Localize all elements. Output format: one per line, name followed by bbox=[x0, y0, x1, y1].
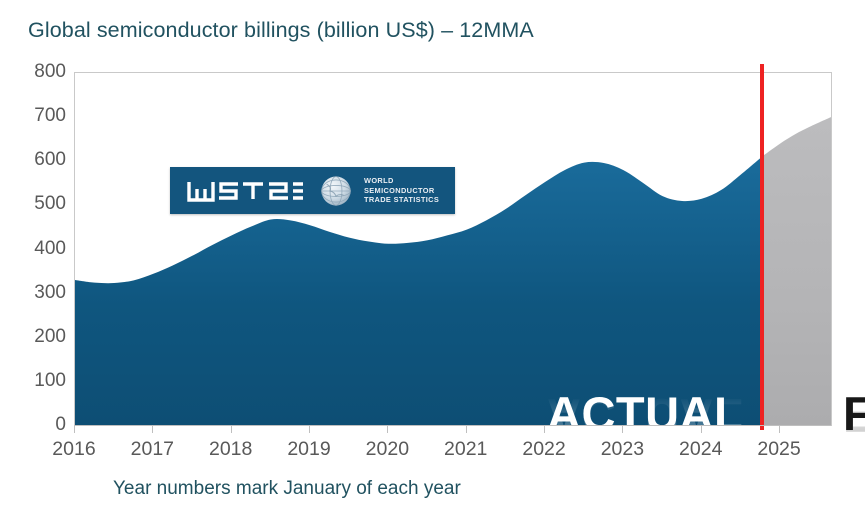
x-tick-mark-2022 bbox=[544, 425, 545, 433]
forecast-area-path bbox=[763, 117, 831, 426]
x-tick-label-2025: 2025 bbox=[757, 438, 800, 461]
x-tick-mark-2025 bbox=[779, 425, 780, 433]
actual-region-label-reflection: ACTUAL bbox=[547, 392, 743, 439]
x-tick-mark-2024 bbox=[701, 425, 702, 433]
x-tick-label-2021: 2021 bbox=[444, 438, 487, 461]
wsts-tagline-line-1: WORLD bbox=[364, 176, 439, 186]
plot-clip bbox=[75, 73, 831, 426]
page-title: Global semiconductor billings (billion U… bbox=[28, 18, 534, 43]
x-tick-label-2018: 2018 bbox=[209, 438, 252, 461]
forecast-region-label-reflection: FC bbox=[843, 392, 865, 439]
y-tick-label-300: 300 bbox=[8, 282, 66, 304]
x-tick-label-2019: 2019 bbox=[287, 438, 330, 461]
y-axis: 0100200300400500600700800 bbox=[0, 72, 66, 425]
x-tick-label-2016: 2016 bbox=[52, 438, 95, 461]
wsts-tagline-line-3: TRADE STATISTICS bbox=[364, 195, 439, 205]
x-tick-mark-2019 bbox=[309, 425, 310, 433]
axis-footnote: Year numbers mark January of each year bbox=[113, 478, 461, 500]
plot-area: WORLD SEMICONDUCTOR TRADE STATISTICS ACT… bbox=[74, 72, 832, 426]
x-tick-mark-2021 bbox=[466, 425, 467, 433]
y-tick-label-500: 500 bbox=[8, 193, 66, 215]
wsts-tagline: WORLD SEMICONDUCTOR TRADE STATISTICS bbox=[364, 176, 439, 206]
x-tick-label-2020: 2020 bbox=[366, 438, 409, 461]
y-tick-label-100: 100 bbox=[8, 370, 66, 392]
y-tick-label-600: 600 bbox=[8, 149, 66, 171]
x-tick-label-2024: 2024 bbox=[679, 438, 722, 461]
x-tick-mark-2016 bbox=[74, 425, 75, 433]
x-tick-label-2022: 2022 bbox=[522, 438, 565, 461]
forecast-divider-line bbox=[760, 64, 764, 430]
wsts-tagline-line-2: SEMICONDUCTOR bbox=[364, 186, 439, 196]
x-axis-line bbox=[74, 425, 831, 426]
y-tick-label-800: 800 bbox=[8, 61, 66, 83]
x-tick-mark-2023 bbox=[622, 425, 623, 433]
x-tick-mark-2017 bbox=[152, 425, 153, 433]
x-tick-mark-2018 bbox=[231, 425, 232, 433]
x-tick-label-2017: 2017 bbox=[131, 438, 174, 461]
area-series-svg bbox=[75, 73, 831, 426]
x-tick-mark-2020 bbox=[387, 425, 388, 433]
x-tick-label-2023: 2023 bbox=[601, 438, 644, 461]
y-tick-label-400: 400 bbox=[8, 238, 66, 260]
y-tick-label-0: 0 bbox=[8, 414, 66, 436]
wsts-logo: WORLD SEMICONDUCTOR TRADE STATISTICS bbox=[170, 167, 455, 214]
globe-icon bbox=[319, 174, 353, 208]
y-tick-label-700: 700 bbox=[8, 105, 66, 127]
y-tick-label-200: 200 bbox=[8, 326, 66, 348]
wsts-wordmark-icon bbox=[187, 176, 305, 206]
